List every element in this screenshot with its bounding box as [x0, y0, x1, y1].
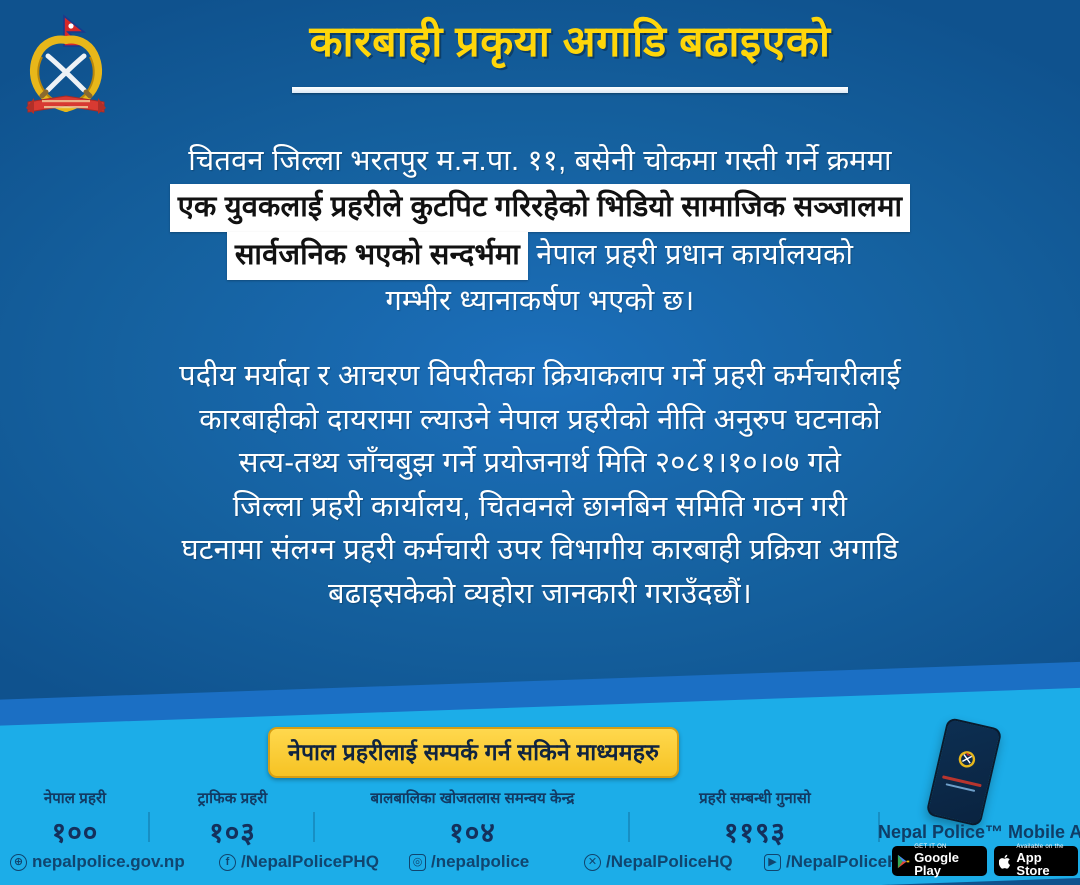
notice-line: सार्वजनिक भएको सन्दर्भमा नेपाल प्रहरी प्…	[30, 232, 1050, 280]
youtube-icon[interactable]: ▶	[764, 854, 781, 871]
notice-text: पदीय मर्यादा र आचरण विपरीतका क्रियाकलाप …	[179, 360, 901, 392]
notice-text: नेपाल प्रहरी प्रधान कार्यालयको	[528, 239, 853, 271]
paragraph-gap	[30, 337, 1050, 355]
notice-line: एक युवकलाई प्रहरीले कुटपिट गरिरहेको भिडि…	[30, 184, 1050, 232]
facebook-icon[interactable]: f	[219, 854, 236, 871]
notice-line: पदीय मर्यादा र आचरण विपरीतका क्रियाकलाप …	[30, 355, 1050, 399]
social-links-row: ⊕nepalpolice.gov.npf/NepalPolicePHQ◎/nep…	[0, 852, 880, 872]
contact-methods-banner: नेपाल प्रहरीलाई सम्पर्क गर्न सकिने माध्य…	[268, 727, 679, 778]
social-handle: /NepalPoliceHQ	[606, 852, 733, 872]
notice-body: चितवन जिल्ला भरतपुर म.न.पा. ११, बसेनी चो…	[30, 140, 1050, 630]
poster-canvas: कारबाही प्रकृया अगाडि बढाइएको चितवन जिल्…	[0, 0, 1080, 885]
contact-label: बालबालिका खोजतलास समन्वय केन्द्र	[315, 788, 630, 808]
title-block: कारबाही प्रकृया अगाडि बढाइएको	[130, 18, 1010, 93]
notice-text: जिल्ला प्रहरी कार्यालय, चितवनले छानबिन स…	[233, 491, 848, 523]
contact-column: बालबालिका खोजतलास समन्वय केन्द्र१०४	[315, 788, 630, 851]
social-handle: /NepalPolicePHQ	[241, 852, 379, 872]
title-divider	[292, 87, 848, 93]
contact-number: १०३	[150, 813, 315, 851]
emergency-contacts-row: नेपाल प्रहरी१००ट्राफिक प्रहरी१०३बालबालिक…	[0, 788, 880, 851]
globe-icon[interactable]: ⊕	[10, 854, 27, 871]
social-link[interactable]: ◎/nepalpolice	[395, 852, 570, 872]
mobile-app-promo: Nepal Police™ Mobile App GET IT ON Googl…	[878, 722, 1078, 885]
app-store-badge[interactable]: Available on the App Store	[994, 846, 1078, 876]
social-link[interactable]: ✕/NepalPoliceHQ	[570, 852, 750, 872]
notice-line: चितवन जिल्ला भरतपुर म.न.पा. ११, बसेनी चो…	[30, 140, 1050, 184]
social-handle: /nepalpolice	[431, 852, 529, 872]
notice-line: घटनामा संलग्न प्रहरी कर्मचारी उपर विभागी…	[30, 529, 1050, 573]
contact-number: १००	[0, 813, 150, 851]
notice-text: सत्य-तथ्य जाँचबुझ गर्ने प्रयोजनार्थ मिति…	[239, 447, 841, 479]
social-handle: nepalpolice.gov.np	[32, 852, 185, 872]
nepal-police-emblem	[18, 12, 114, 120]
contact-number: १०४	[315, 813, 630, 851]
notice-line: गम्भीर ध्यानाकर्षण भएको छ।	[30, 280, 1050, 324]
contact-methods-label: नेपाल प्रहरीलाई सम्पर्क गर्न सकिने माध्य…	[288, 739, 659, 765]
google-play-icon	[897, 853, 910, 870]
x-twitter-icon[interactable]: ✕	[584, 854, 601, 871]
paragraph-1: चितवन जिल्ला भरतपुर म.न.पा. ११, बसेनी चो…	[30, 140, 1050, 323]
contact-column: नेपाल प्रहरी१००	[0, 788, 150, 851]
contact-label: नेपाल प्रहरी	[0, 788, 150, 808]
notice-line: सत्य-तथ्य जाँचबुझ गर्ने प्रयोजनार्थ मिति…	[30, 442, 1050, 486]
notice-text: गम्भीर ध्यानाकर्षण भएको छ।	[386, 285, 695, 317]
contact-label: प्रहरी सम्बन्धी गुनासो	[630, 788, 880, 808]
social-link[interactable]: ⊕nepalpolice.gov.np	[0, 852, 205, 872]
app-name-label: Nepal Police™ Mobile App	[878, 822, 1078, 843]
contact-number: ११९३	[630, 813, 880, 851]
notice-text: कारबाहीको दायरामा ल्याउने नेपाल प्रहरीको…	[199, 404, 880, 436]
notice-text: चितवन जिल्ला भरतपुर म.न.पा. ११, बसेनी चो…	[188, 145, 892, 177]
google-play-main-label: Google Play	[914, 851, 980, 878]
paragraph-2: पदीय मर्यादा र आचरण विपरीतका क्रियाकलाप …	[30, 355, 1050, 616]
notice-line: बढाइसकेको व्यहोरा जानकारी गराउँदछौं।	[30, 573, 1050, 617]
google-play-badge[interactable]: GET IT ON Google Play	[892, 846, 987, 876]
social-link[interactable]: f/NepalPolicePHQ	[205, 852, 395, 872]
phone-mockup-icon	[925, 717, 1002, 827]
notice-text: घटनामा संलग्न प्रहरी कर्मचारी उपर विभागी…	[181, 534, 898, 566]
contact-column: ट्राफिक प्रहरी१०३	[150, 788, 315, 851]
contact-column: प्रहरी सम्बन्धी गुनासो११९३	[630, 788, 880, 851]
phone-screen-emblem-icon	[954, 748, 978, 774]
notice-text: बढाइसकेको व्यहोरा जानकारी गराउँदछौं।	[328, 578, 752, 610]
apple-icon	[999, 853, 1012, 870]
notice-line: जिल्ला प्रहरी कार्यालय, चितवनले छानबिन स…	[30, 486, 1050, 530]
highlighted-text: सार्वजनिक भएको सन्दर्भमा	[227, 232, 528, 280]
notice-line: कारबाहीको दायरामा ल्याउने नेपाल प्रहरीको…	[30, 399, 1050, 443]
highlighted-text: एक युवकलाई प्रहरीले कुटपिट गरिरहेको भिडि…	[170, 184, 910, 232]
store-badges: GET IT ON Google Play Available on the A…	[892, 846, 1078, 876]
app-store-main-label: App Store	[1016, 851, 1071, 878]
instagram-icon[interactable]: ◎	[409, 854, 426, 871]
contact-label: ट्राफिक प्रहरी	[150, 788, 315, 808]
page-title: कारबाही प्रकृया अगाडि बढाइएको	[130, 18, 1010, 67]
